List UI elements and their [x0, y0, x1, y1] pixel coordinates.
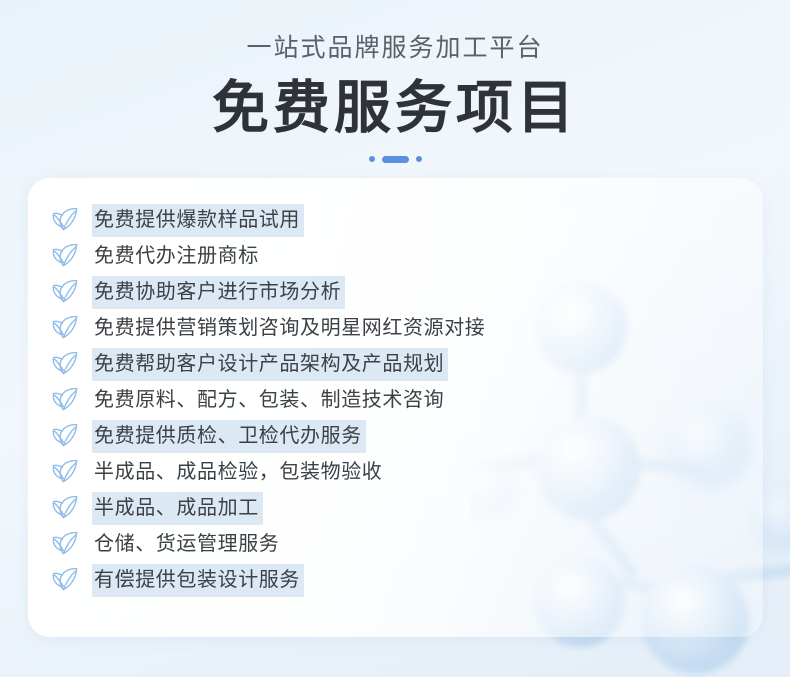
page-subtitle: 一站式品牌服务加工平台: [0, 33, 790, 63]
divider-ornament: [0, 153, 790, 165]
service-list-item-label: 免费帮助客户设计产品架构及产品规划: [92, 348, 448, 381]
service-list-item: 免费代办注册商标: [50, 238, 740, 274]
service-list-item-label: 免费提供质检、卫检代办服务: [92, 420, 366, 453]
leaf-icon: [52, 315, 80, 341]
divider-dot-right: [416, 156, 422, 162]
service-list-item-label: 免费代办注册商标: [92, 240, 263, 273]
page-title: 免费服务项目: [0, 77, 790, 139]
leaf-icon: [52, 243, 80, 269]
service-list-item: 仓储、货运管理服务: [50, 526, 740, 562]
leaf-icon: [52, 423, 80, 449]
service-list-item: 免费协助客户进行市场分析: [50, 274, 740, 310]
page-root: 一站式品牌服务加工平台 免费服务项目 免费提供爆款样品试用 免费代办注册商标 免…: [0, 0, 790, 677]
service-list-item-label: 免费提供营销策划咨询及明星网红资源对接: [92, 312, 489, 345]
service-list-item: 免费提供爆款样品试用: [50, 202, 740, 238]
service-list-card: 免费提供爆款样品试用 免费代办注册商标 免费协助客户进行市场分析 免费提供营销策…: [28, 178, 763, 637]
service-list: 免费提供爆款样品试用 免费代办注册商标 免费协助客户进行市场分析 免费提供营销策…: [50, 202, 740, 598]
service-list-item-label: 半成品、成品检验，包装物验收: [92, 456, 386, 489]
service-list-item-label: 仓储、货运管理服务: [92, 528, 283, 561]
leaf-icon: [52, 567, 80, 593]
service-list-item-label: 有偿提供包装设计服务: [92, 564, 304, 597]
service-list-item: 半成品、成品检验，包装物验收: [50, 454, 740, 490]
service-list-item-label: 半成品、成品加工: [92, 492, 263, 525]
page-header: 一站式品牌服务加工平台 免费服务项目: [0, 0, 790, 165]
service-list-item: 有偿提供包装设计服务: [50, 562, 740, 598]
leaf-icon: [52, 495, 80, 521]
service-list-item-label: 免费原料、配方、包装、制造技术咨询: [92, 384, 448, 417]
leaf-icon: [52, 387, 80, 413]
leaf-icon: [52, 207, 80, 233]
service-list-item-label: 免费协助客户进行市场分析: [92, 276, 345, 309]
service-list-item: 免费提供营销策划咨询及明星网红资源对接: [50, 310, 740, 346]
leaf-icon: [52, 459, 80, 485]
leaf-icon: [52, 531, 80, 557]
leaf-icon: [52, 279, 80, 305]
service-list-item: 半成品、成品加工: [50, 490, 740, 526]
service-list-item-label: 免费提供爆款样品试用: [92, 204, 304, 237]
service-list-item: 免费原料、配方、包装、制造技术咨询: [50, 382, 740, 418]
divider-pill: [382, 156, 409, 163]
divider-dot-left: [369, 156, 375, 162]
service-list-item: 免费帮助客户设计产品架构及产品规划: [50, 346, 740, 382]
service-list-item: 免费提供质检、卫检代办服务: [50, 418, 740, 454]
leaf-icon: [52, 351, 80, 377]
